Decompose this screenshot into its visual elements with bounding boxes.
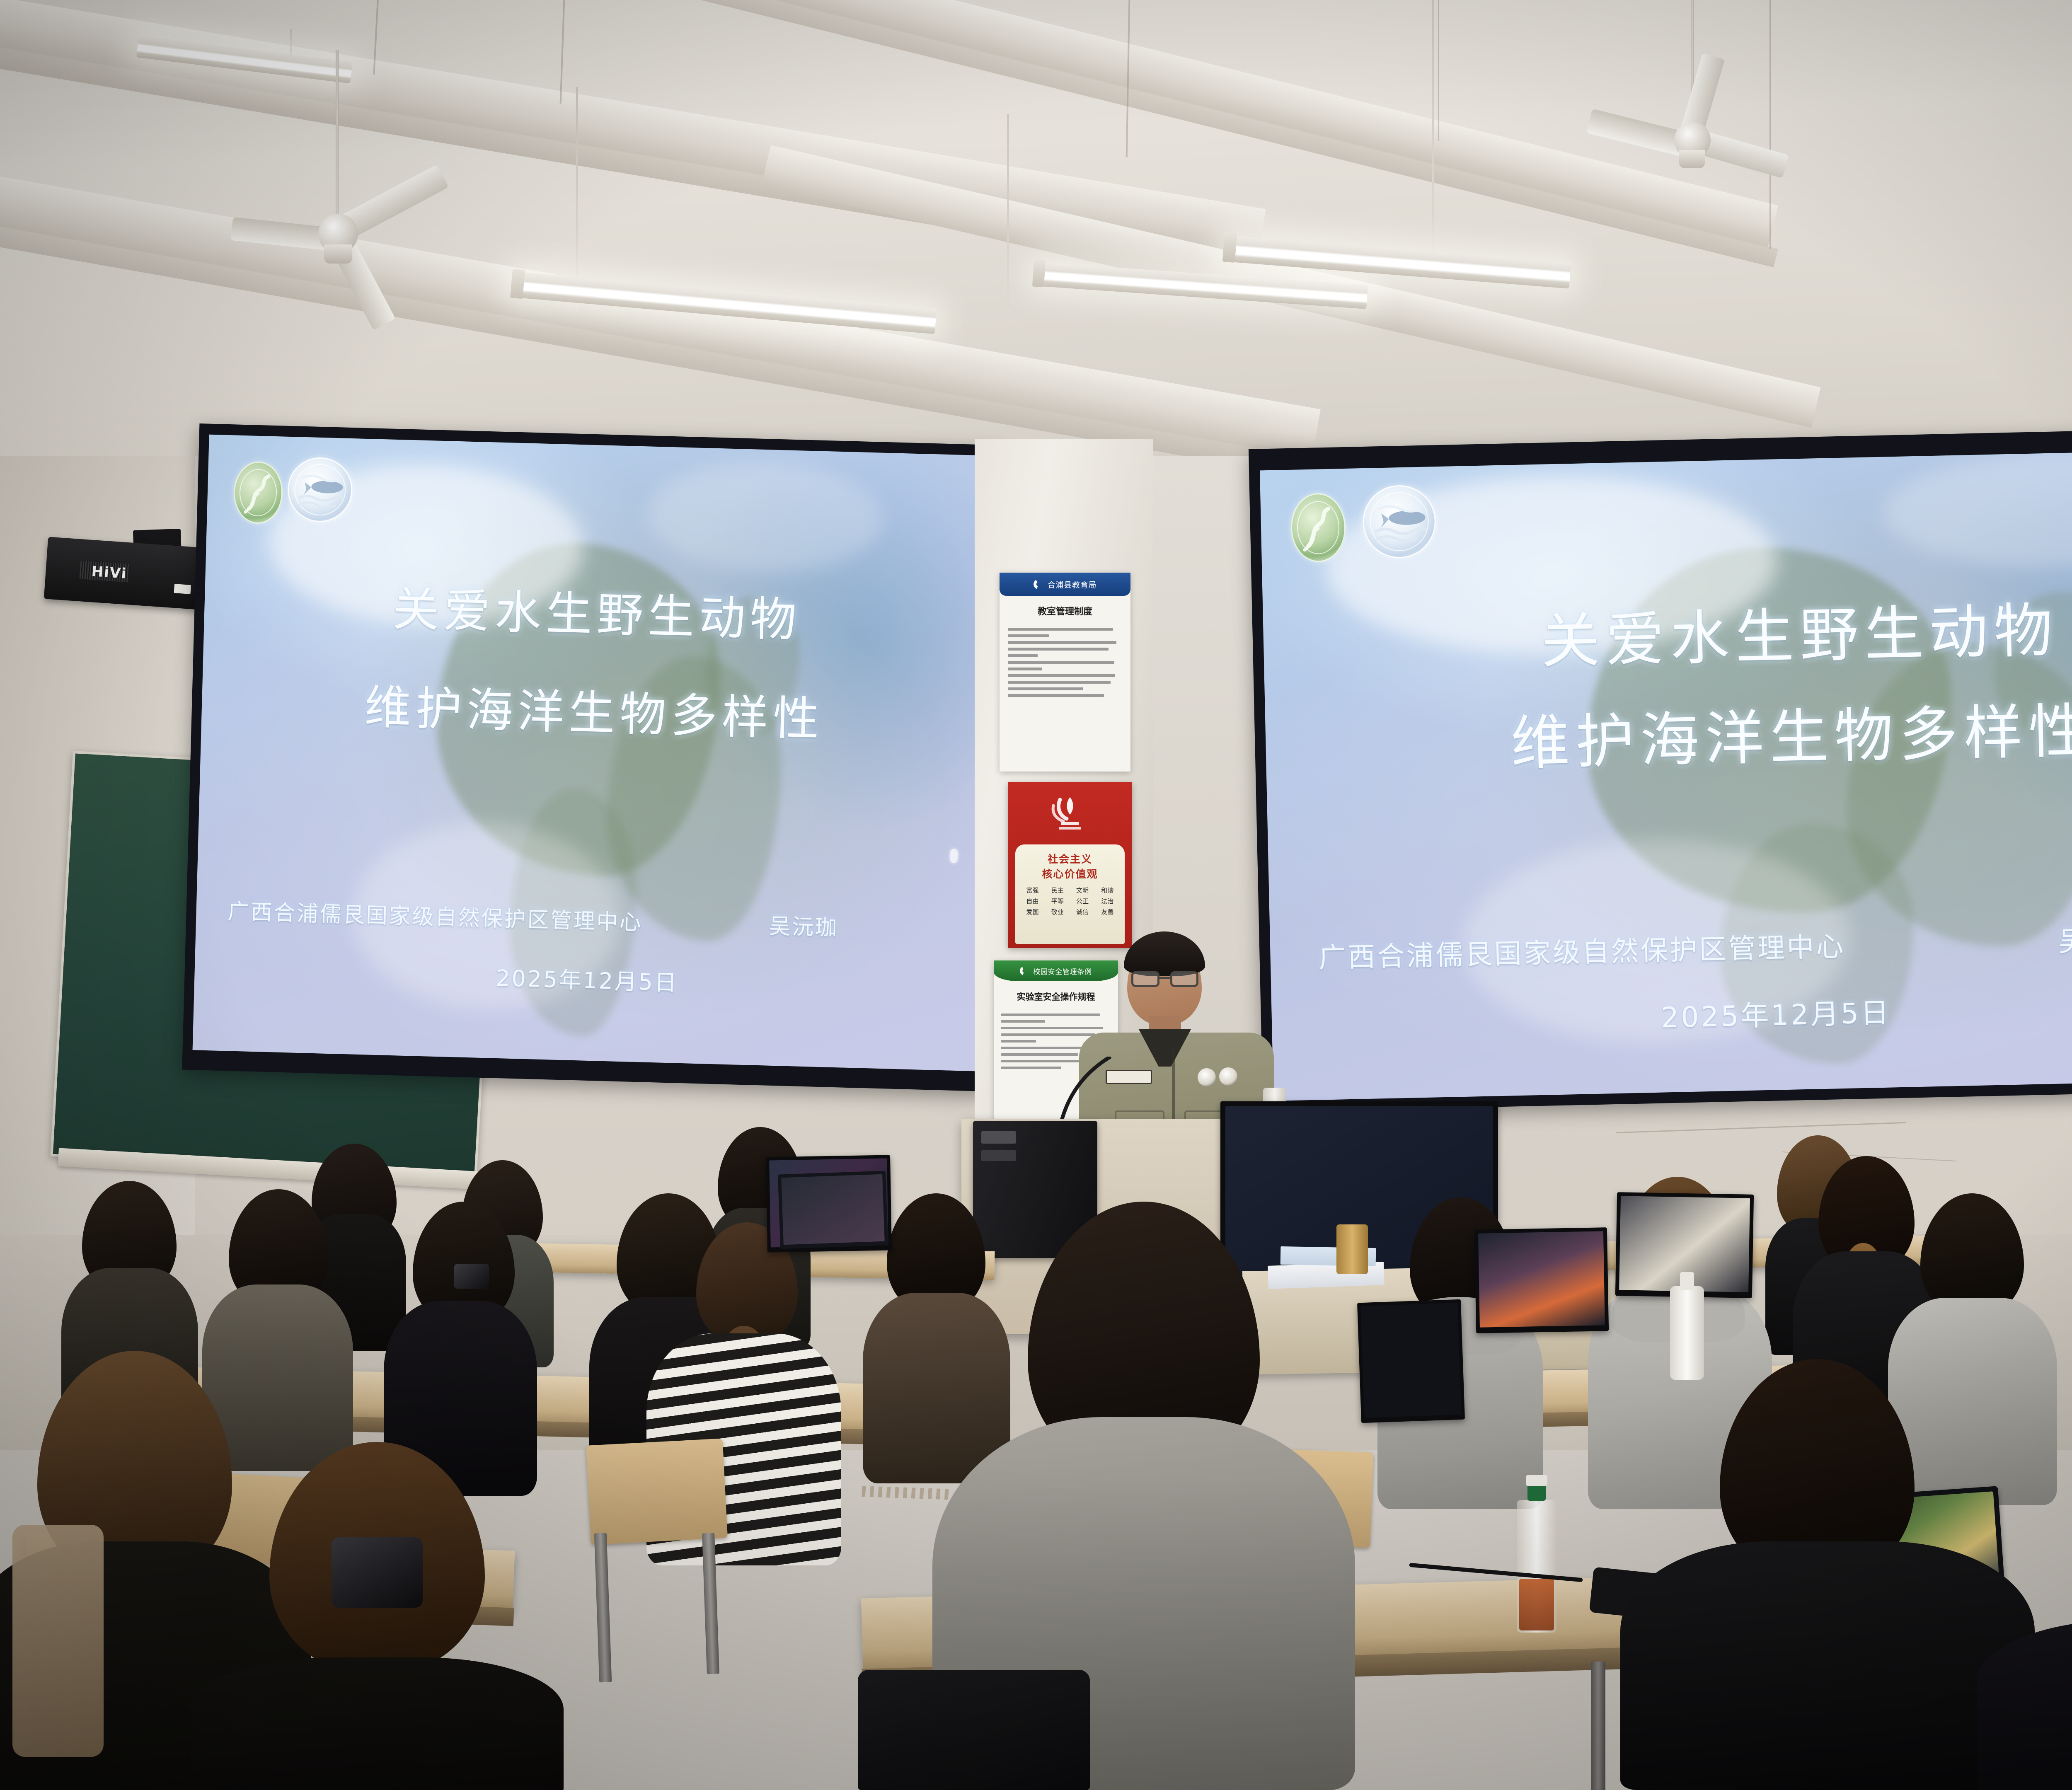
core-value-word: 友善 (1096, 907, 1119, 916)
classroom-chair (586, 1439, 728, 1545)
core-value-word: 诚信 (1071, 907, 1094, 916)
knit-scarf (12, 1525, 104, 1757)
core-value-word: 公正 (1071, 897, 1094, 905)
tower-drive-bay (981, 1131, 1016, 1144)
hair-clip (332, 1537, 423, 1608)
hair-clip (454, 1264, 489, 1289)
slide-byline-speaker: 吴沅珈 (2058, 918, 2072, 960)
speaker-sticker (174, 584, 191, 594)
core-value-word: 民主 (1046, 886, 1069, 895)
computer-monitor (1474, 1227, 1609, 1333)
hepu-dugong-reserve-emblem-icon (1362, 484, 1437, 559)
swirl-icon (1034, 579, 1043, 589)
cable (1409, 1563, 1583, 1582)
core-value-word: 自由 (1021, 897, 1044, 905)
core-value-word: 敬业 (1046, 907, 1069, 916)
ceiling (0, 0, 2072, 481)
core-value-word: 法治 (1096, 897, 1119, 905)
core-value-word: 文明 (1071, 886, 1094, 895)
chair-frame (594, 1533, 612, 1683)
values-title-line1: 社会主义 (1015, 851, 1125, 866)
core-value-word: 爱国 (1021, 907, 1044, 916)
ceiling-fan (1525, 0, 1857, 253)
water-bottle (1517, 1475, 1556, 1633)
student (1964, 1425, 2072, 1790)
notice-poster-title: 教室管理制度 (1000, 604, 1130, 617)
eyeglasses-icon (1130, 970, 1200, 988)
student (166, 1442, 580, 1790)
desk-leg (1591, 1662, 1605, 1790)
swirl-icon (1020, 966, 1029, 975)
speaker-brand-label: HiVi (86, 563, 133, 583)
torch-icon (1045, 790, 1095, 835)
notice-poster-header-text: 合浦县教育局 (1048, 579, 1097, 590)
slide-byline-speaker: 吴沅珈 (769, 909, 839, 941)
chest-badge (1198, 1068, 1216, 1086)
guangxi-reserve-emblem-icon (232, 461, 283, 525)
tower-drive-bay (981, 1150, 1016, 1161)
backpack (858, 1670, 1090, 1790)
hepu-dugong-reserve-emblem-icon (287, 456, 353, 522)
ceiling-fan (178, 50, 493, 315)
laptop (778, 1171, 888, 1249)
left-projection-screen: 关爱水生野生动物 维护海洋生物多样性 广西合浦儒艮国家级自然保护区管理中心 吴沅… (182, 423, 1003, 1091)
values-grid: 富强民主文明和谐自由平等公正法治爱国敬业诚信友善 (1015, 881, 1125, 916)
core-value-word: 富强 (1021, 886, 1044, 895)
values-title-line2: 核心价值观 (1015, 866, 1125, 881)
core-value-word: 和谐 (1096, 886, 1119, 895)
guangxi-reserve-emblem-icon (1290, 493, 1347, 563)
socialist-core-values-poster: 社会主义 核心价值观 富强民主文明和谐自由平等公正法治爱国敬业诚信友善 (1008, 782, 1132, 948)
classroom-photo: HiVi (0, 0, 2072, 1790)
core-value-word: 平等 (1046, 897, 1069, 905)
right-projection-screen: 关爱水生野生动物 维护海洋生物多样性 广西合浦儒艮国家级自然保护区管理中心 吴沅… (1249, 425, 2072, 1112)
notice-poster-header: 合浦县教育局 (1000, 573, 1130, 596)
chest-badge (1219, 1067, 1237, 1086)
notice-poster: 合浦县教育局 教室管理制度 (1000, 573, 1130, 772)
